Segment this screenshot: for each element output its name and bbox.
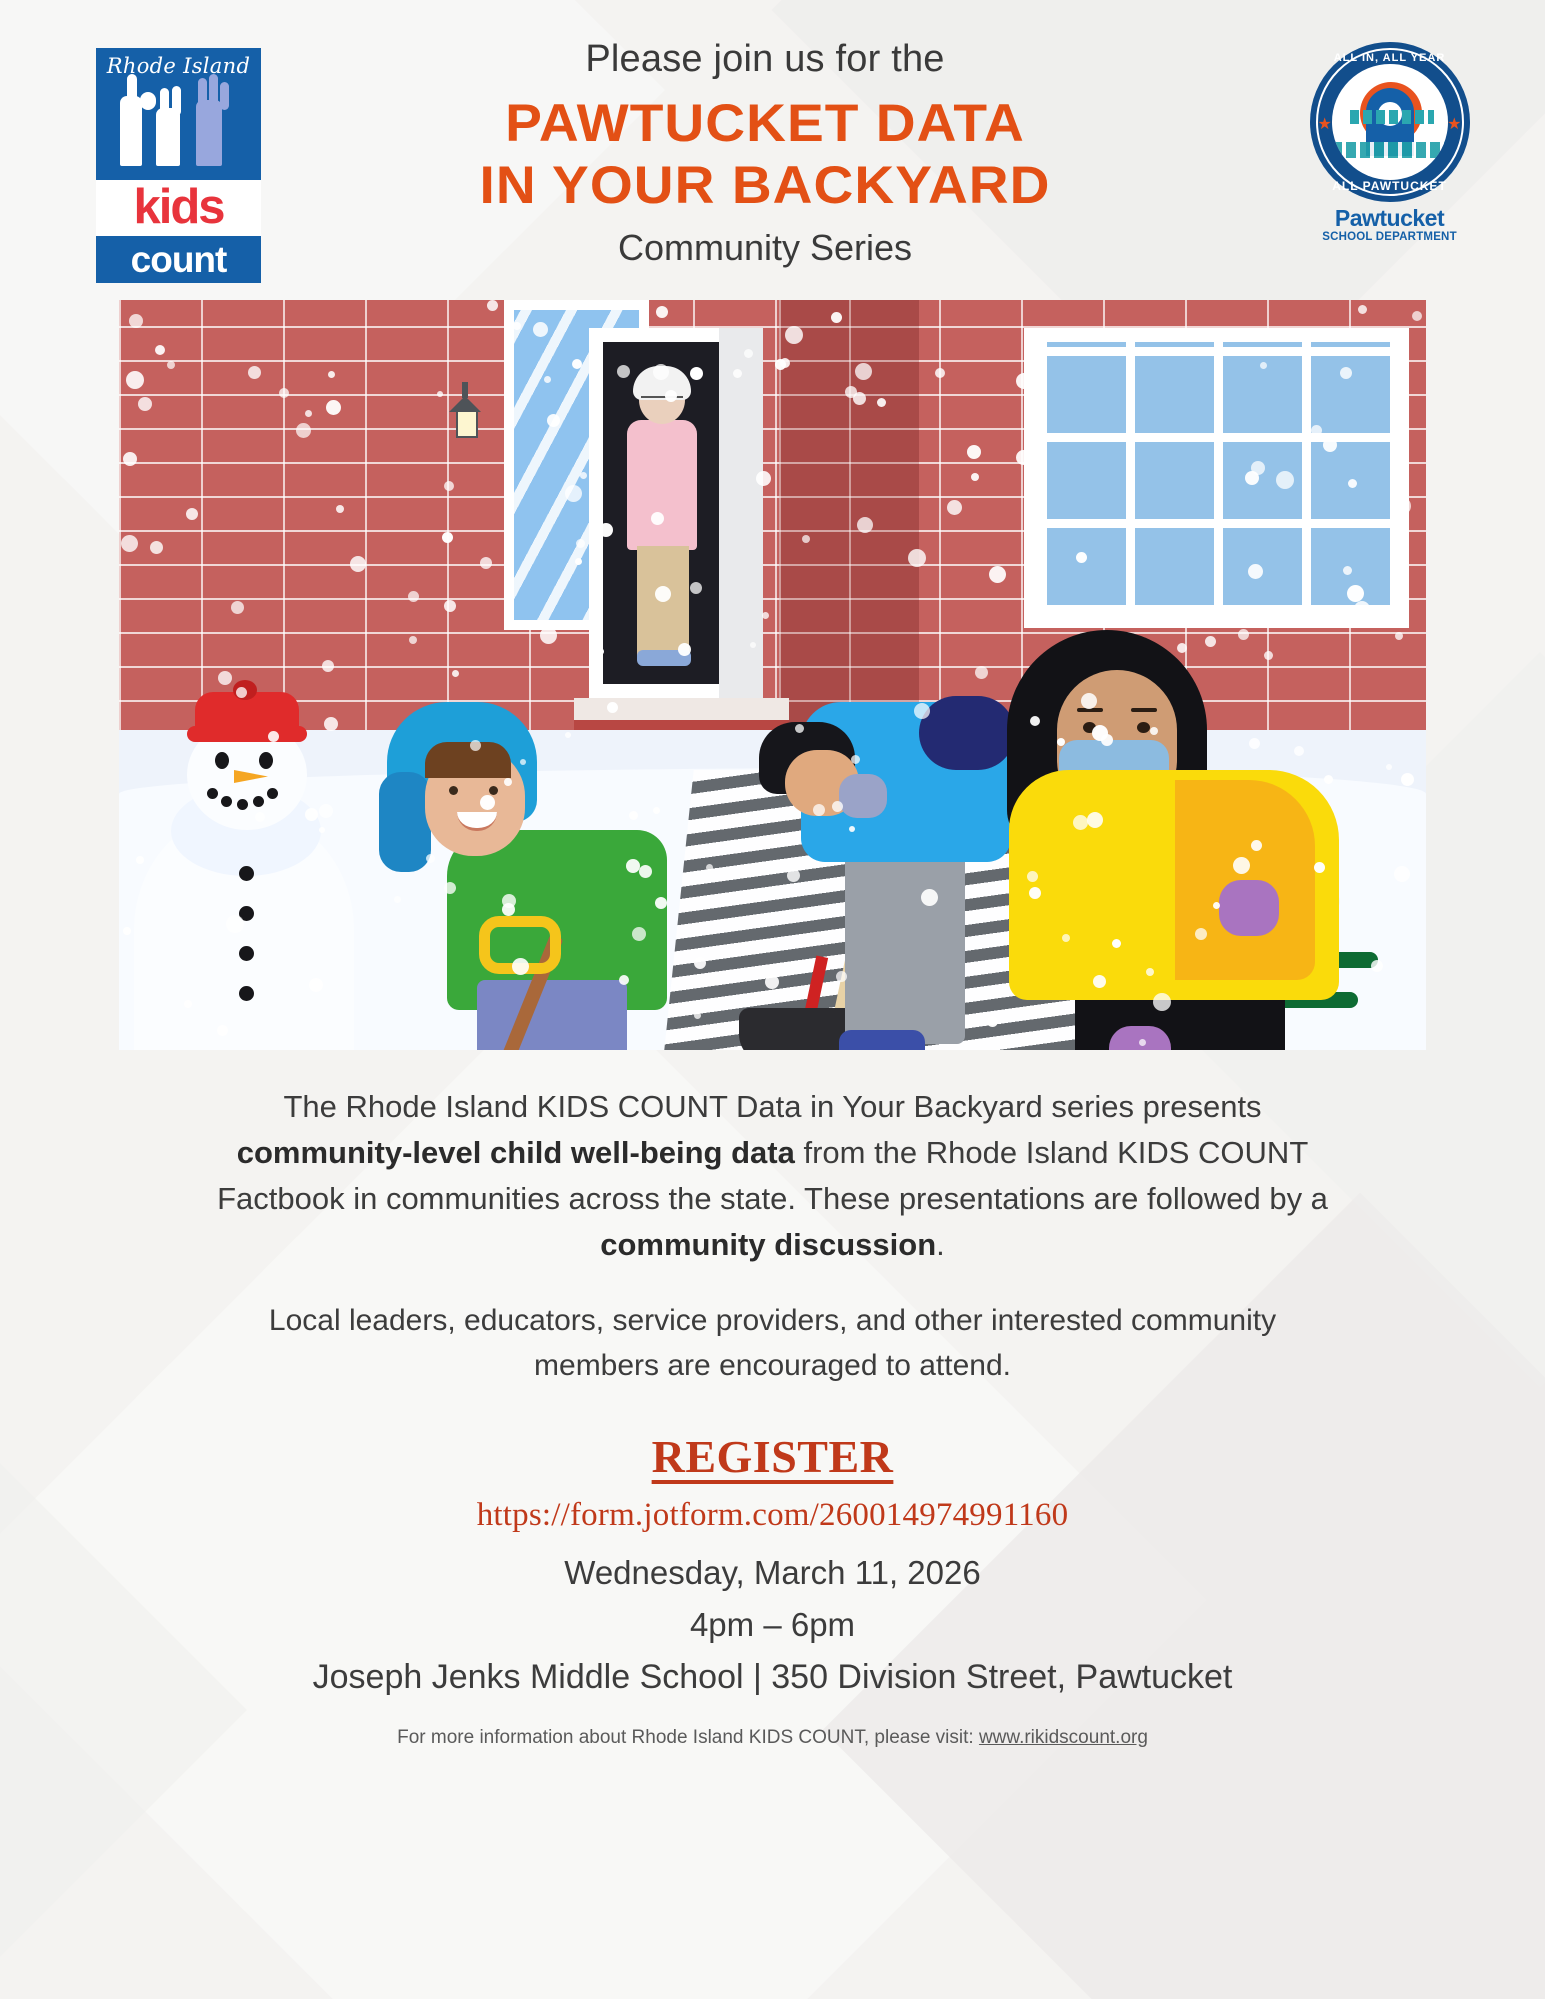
snowman-smile	[205, 786, 281, 808]
pre-title: Please join us for the	[300, 38, 1230, 81]
star-icon: ★	[1447, 114, 1461, 134]
page-title: PAWTUCKET DATA IN YOUR BACKYARD	[281, 93, 1248, 217]
pawtucket-school-department-logo: ALL IN, ALL YEAR ALL PAWTUCKET ★ ★ Pawtu…	[1302, 42, 1477, 257]
title-line-2: IN YOUR BACKYARD	[281, 155, 1248, 217]
sub-title: Community Series	[300, 227, 1230, 269]
neighbor-legs	[637, 546, 689, 656]
logo-kids-label: kids	[96, 180, 261, 236]
event-time: 4pm – 6pm	[0, 1606, 1545, 1644]
seal-bottom-text: ALL PAWTUCKET	[1310, 179, 1470, 193]
logo-state-label: Rhode Island	[96, 54, 261, 78]
body-copy: The Rhode Island KIDS COUNT Data in Your…	[203, 1084, 1343, 1388]
footer-text: For more information about Rhode Island …	[397, 1727, 979, 1748]
raised-hand-icon	[196, 100, 222, 166]
shovel-grip	[479, 916, 561, 974]
logo-top-panel: Rhode Island	[96, 48, 261, 180]
header-text-block: Please join us for the PAWTUCKET DATA IN…	[300, 38, 1230, 269]
neighbor-shoe	[637, 650, 691, 666]
register-link[interactable]: REGISTER	[0, 1430, 1545, 1483]
water-wave-icon	[1350, 110, 1434, 124]
registration-url[interactable]: https://form.jotform.com/260014974991160	[0, 1497, 1545, 1534]
raised-hand-icon	[156, 108, 180, 166]
seal-top-text: ALL IN, ALL YEAR	[1310, 52, 1470, 64]
logo-bottom-panel: count	[96, 236, 261, 283]
footer-link[interactable]: www.rikidscount.org	[979, 1727, 1148, 1748]
door-panel	[719, 328, 763, 698]
pawtucket-seal-icon: ALL IN, ALL YEAR ALL PAWTUCKET ★ ★	[1310, 42, 1470, 202]
glove-icon	[1109, 1026, 1171, 1050]
rhode-island-kids-count-logo: Rhode Island kids count	[96, 48, 261, 283]
registration-block: REGISTER https://form.jotform.com/260014…	[0, 1430, 1545, 1697]
flyer-page: Rhode Island kids count Please join us f…	[0, 0, 1545, 1999]
logo-count-label: count	[96, 236, 261, 283]
neighbor-body	[627, 420, 697, 550]
doorway	[589, 328, 734, 698]
glasses-icon	[641, 396, 683, 407]
porch-lamp-icon	[449, 396, 481, 442]
paragraph-2: Local leaders, educators, service provid…	[203, 1298, 1343, 1388]
paragraph-1-text-c: .	[936, 1227, 945, 1262]
pawtucket-name: Pawtucket	[1302, 205, 1477, 232]
child-green-coat	[329, 680, 669, 1050]
event-location: Joseph Jenks Middle School | 350 Divisio…	[0, 1658, 1545, 1697]
water-wave-icon	[1332, 142, 1448, 158]
glove-icon	[1219, 880, 1279, 936]
child-yellow-hoodie	[979, 630, 1399, 1050]
glove-icon	[839, 774, 887, 818]
pawtucket-department: SCHOOL DEPARTMENT	[1302, 231, 1477, 243]
footer: For more information about Rhode Island …	[0, 1727, 1545, 1749]
window-right	[1024, 328, 1409, 628]
snowman	[129, 690, 359, 1050]
paragraph-1-bold-b: community discussion	[600, 1227, 936, 1262]
flyer-header: Rhode Island kids count Please join us f…	[0, 0, 1545, 300]
star-icon: ★	[1318, 114, 1332, 134]
title-line-1: PAWTUCKET DATA	[281, 93, 1248, 155]
snow-shoveling-illustration	[119, 300, 1426, 1050]
paragraph-1-text-a: The Rhode Island KIDS COUNT Data in Your…	[283, 1089, 1261, 1124]
paragraph-1: The Rhode Island KIDS COUNT Data in Your…	[203, 1084, 1343, 1268]
paragraph-1-bold-a: community-level child well-being data	[237, 1135, 795, 1170]
child-blue-coat	[749, 678, 1009, 1050]
event-date: Wednesday, March 11, 2026	[0, 1554, 1545, 1592]
